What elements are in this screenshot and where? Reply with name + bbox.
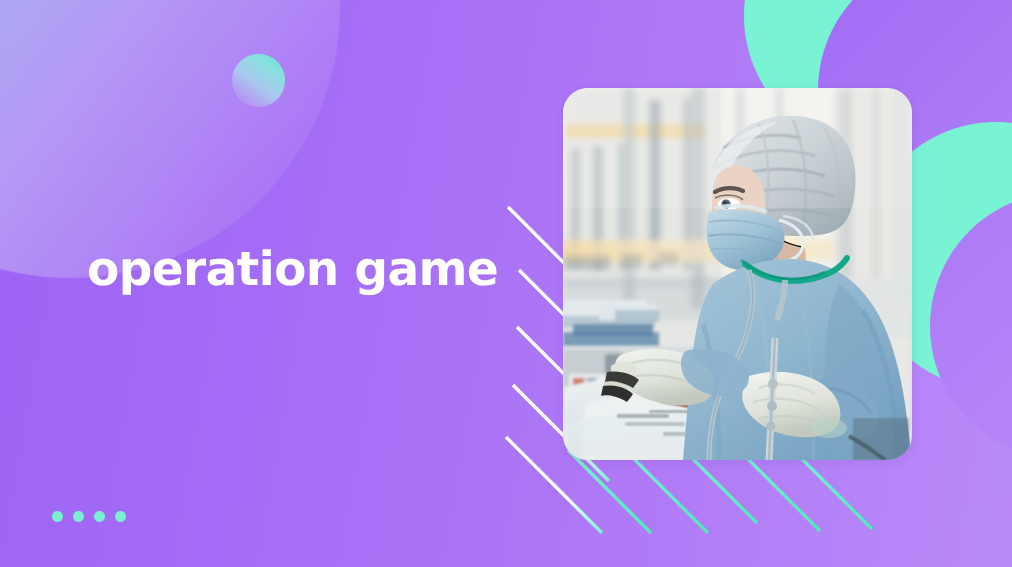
- top-left-gradient-blob: [0, 0, 340, 278]
- dot-indicator-4: [115, 511, 126, 522]
- operating-room-photo: [563, 88, 912, 460]
- photo-card: [563, 88, 912, 460]
- dot-indicator-3: [94, 511, 105, 522]
- small-gradient-circle: [232, 54, 285, 107]
- page-title: operation game: [87, 240, 498, 300]
- dot-indicator-2: [73, 511, 84, 522]
- dot-indicators: [52, 511, 126, 522]
- slide-canvas: operation game: [0, 0, 1012, 567]
- dot-indicator-1: [52, 511, 63, 522]
